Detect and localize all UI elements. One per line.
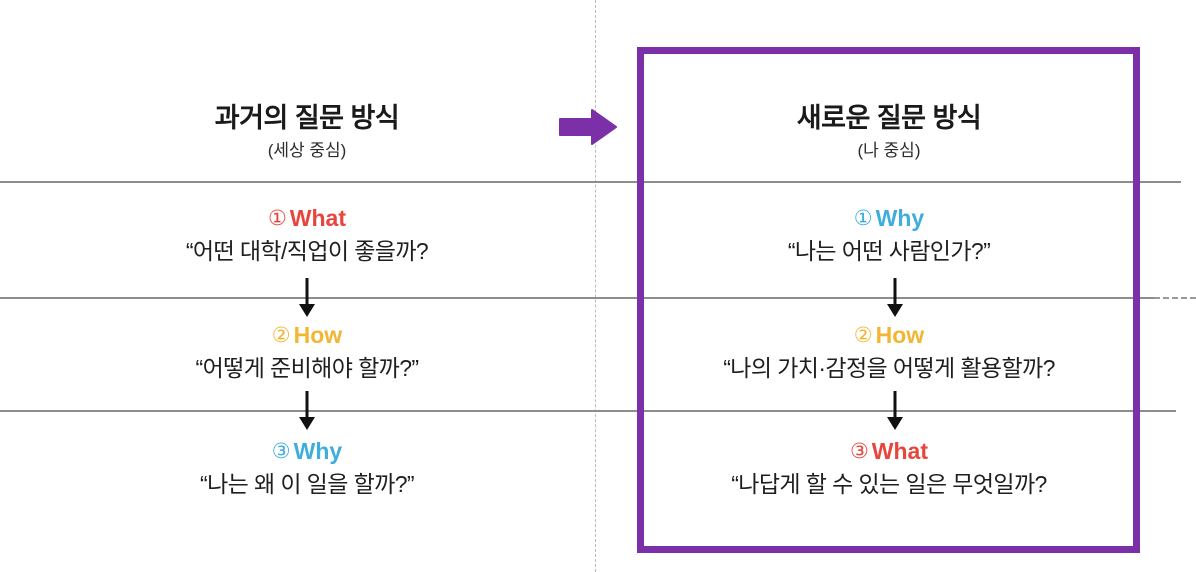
step-row-new-1: ①Why “나는 어떤 사람인가?” [629,205,1149,266]
step-quote-past-1: “어떤 대학/직업이 좋을까? [47,238,567,266]
step-row-new-2: ②How “나의 가치·감정을 어떻게 활용할까? [629,322,1149,383]
step-label-new-3: ③What [629,438,1149,464]
step-keyword-past-3: Why [294,438,343,464]
step-row-past-3: ③Why “나는 왜 이 일을 할까?” [47,438,567,499]
step-quote-past-3: “나는 왜 이 일을 할까?” [47,471,567,499]
down-arrow-icon-past-2 [296,391,318,431]
step-row-new-3: ③What “나답게 할 수 있는 일은 무엇일까? [629,438,1149,499]
step-label-new-2: ②How [629,322,1149,348]
down-arrow-icon-new-2 [884,391,906,431]
subtitle-new: (나 중심) [629,142,1149,161]
step-quote-new-1: “나는 어떤 사람인가?” [629,238,1149,266]
step-row-past-2: ②How “어떻게 준비해야 할까?” [47,322,567,383]
step-quote-past-2: “어떻게 준비해야 할까?” [47,355,567,383]
column-past-header: 과거의 질문 방식 (세상 중심) [47,104,567,160]
step-number-past-3: ③ [272,440,291,463]
step-label-past-2: ②How [47,322,567,348]
right-arrow-icon [559,108,617,146]
step-keyword-new-1: Why [876,205,925,231]
down-arrow-icon-past-1 [296,278,318,318]
step-keyword-past-1: What [290,205,346,231]
subtitle-past: (세상 중심) [47,142,567,161]
vertical-dashed-guide [595,0,596,572]
step-label-past-1: ①What [47,205,567,231]
step-number-new-1: ① [854,207,873,230]
step-number-new-3: ③ [850,440,869,463]
page-title-new: 새로운 질문 방식 [629,104,1149,134]
down-arrow-icon-new-1 [884,278,906,318]
step-label-past-3: ③Why [47,438,567,464]
diagram-canvas: 과거의 질문 방식 (세상 중심) ①What “어떤 대학/직업이 좋을까? … [0,0,1196,572]
step-quote-new-2: “나의 가치·감정을 어떻게 활용할까? [629,355,1149,383]
step-keyword-new-3: What [872,438,928,464]
page-title-past: 과거의 질문 방식 [47,104,567,134]
step-number-past-1: ① [268,207,287,230]
column-new-header: 새로운 질문 방식 (나 중심) [629,104,1149,160]
step-number-past-2: ② [272,324,291,347]
divider-rule-2-dashed-extension [1154,297,1196,299]
step-keyword-new-2: How [876,322,925,348]
step-row-past-1: ①What “어떤 대학/직업이 좋을까? [47,205,567,266]
step-number-new-2: ② [854,324,873,347]
step-label-new-1: ①Why [629,205,1149,231]
step-keyword-past-2: How [294,322,343,348]
step-quote-new-3: “나답게 할 수 있는 일은 무엇일까? [629,471,1149,499]
